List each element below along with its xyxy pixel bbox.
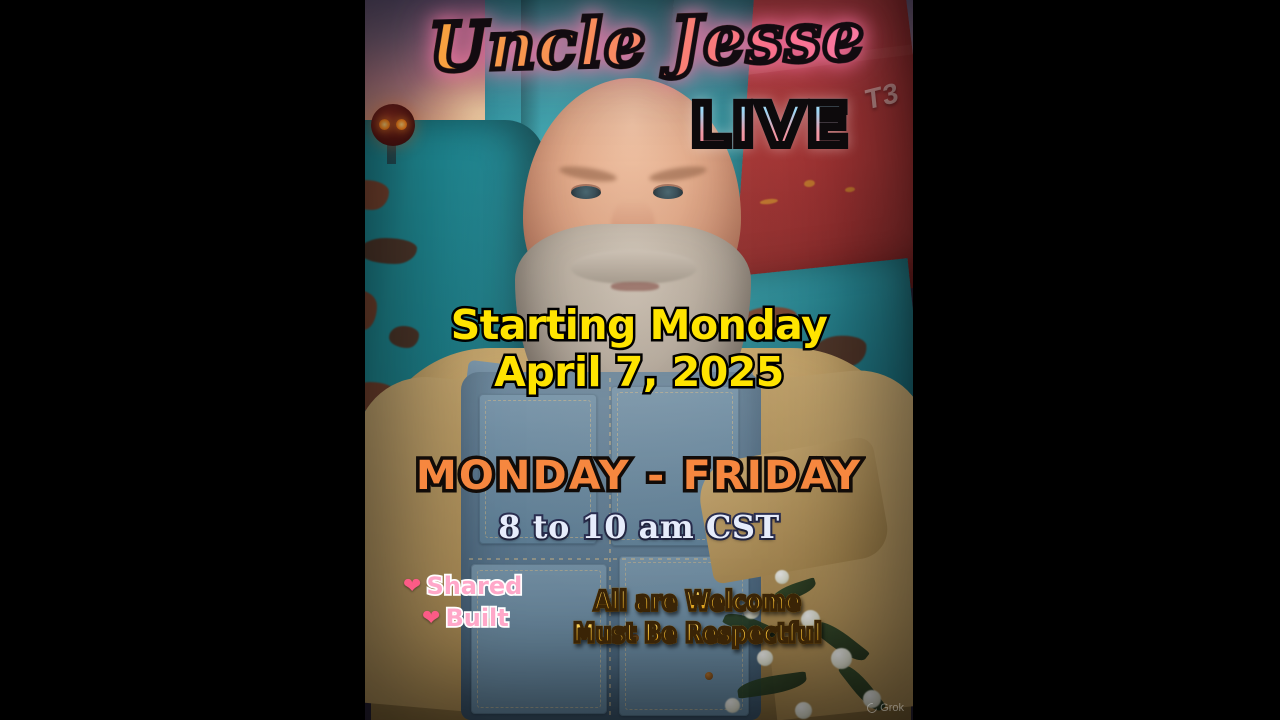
value-label-built: Built [445, 603, 508, 635]
watermark-label: Grok [880, 702, 904, 714]
heart-icon: ❤ [403, 572, 421, 601]
heart-icon: ❤ [422, 604, 440, 633]
schedule-days: MONDAY - FRIDAY [365, 456, 913, 496]
values-list: ❤ Shared ❤ Built [403, 571, 522, 634]
start-date-line-2: April 7, 2025 [365, 349, 913, 396]
text-overlays: Uncle Jesse LIVE Starting Monday April 7… [365, 0, 913, 720]
poster-title: Uncle Jesse [428, 2, 866, 83]
welcome-note: All are Welcome Must Be Respectful [573, 586, 822, 650]
letterbox-left [0, 0, 365, 720]
grok-watermark: Grok [867, 702, 904, 714]
grok-logo-icon [865, 701, 879, 715]
letterbox-right [913, 0, 1280, 720]
value-label-shared: Shared [426, 571, 522, 603]
list-item: ❤ Shared [403, 571, 522, 603]
start-date-block: Starting Monday April 7, 2025 [365, 302, 913, 395]
poster-image: T3 [365, 0, 913, 720]
welcome-line-1: All are Welcome [573, 586, 822, 618]
list-item: ❤ Built [403, 603, 522, 635]
schedule-hours: 8 to 10 am CST [365, 511, 913, 543]
live-badge: LIVE [690, 96, 850, 154]
start-date-line-1: Starting Monday [365, 302, 913, 349]
screen: T3 [0, 0, 1280, 720]
welcome-line-2: Must Be Respectful [573, 618, 822, 650]
